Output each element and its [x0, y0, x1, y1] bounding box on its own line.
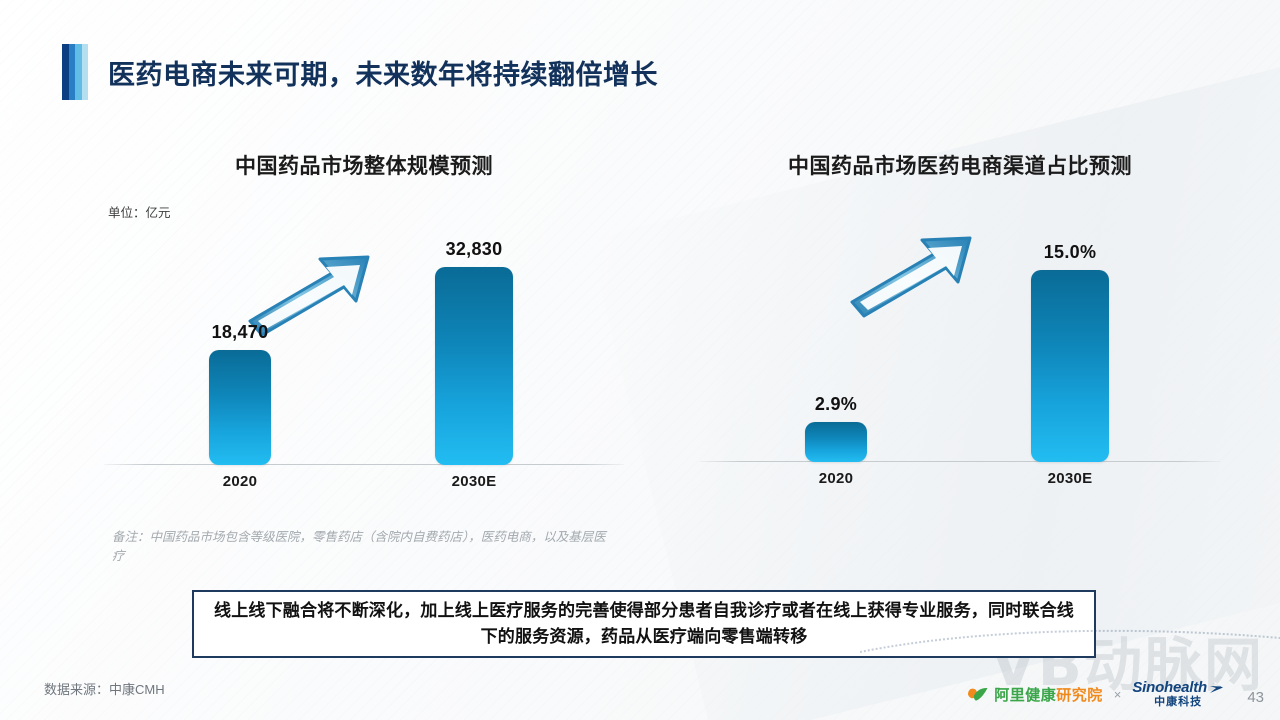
bar-label-left-2020: 2020	[160, 473, 320, 490]
insight-callout-box: 线上线下融合将不断深化，加上线上医疗服务的完善使得部分患者自我诊疗或者在线上获得…	[192, 590, 1096, 658]
bar-left-2030e	[435, 267, 513, 465]
sinohealth-name-cn: 中康科技	[1132, 697, 1224, 708]
bar-value-left-2030e: 32,830	[394, 239, 554, 260]
bar-group-right-2020: 2.9% 2020	[756, 394, 916, 462]
sinohealth-name-en: Sinohealth	[1132, 680, 1207, 695]
bar-right-2020	[805, 422, 867, 462]
alibaba-health-logo: 阿里健康研究院	[967, 684, 1103, 705]
ali-name-orange: 研究院	[1056, 687, 1103, 704]
sinohealth-arrow-icon	[1209, 681, 1224, 694]
bar-value-left-2020: 18,470	[160, 322, 320, 343]
bar-label-right-2030e: 2030E	[990, 470, 1150, 487]
page-title: 医药电商未来可期，未来数年将持续翻倍增长	[108, 53, 658, 92]
accent-bar-icon	[62, 44, 88, 100]
growth-arrow-icon-right	[846, 228, 976, 320]
chart-panel-overall-market-size: 中国药品市场整体规模预测 单位：亿元 18,470 2020 32,830 20…	[104, 150, 624, 499]
plot-area-left: 18,470 2020 32,830 2030E	[104, 227, 624, 499]
bar-right-2030e	[1031, 270, 1109, 462]
chart-panel-ecommerce-channel-share: 中国药品市场医药电商渠道占比预测 2.9% 2020 15.0% 2030E	[700, 150, 1220, 496]
bar-group-left-2030e: 32,830 2030E	[394, 239, 554, 465]
sinohealth-logo: Sinohealth 中康科技	[1132, 680, 1224, 708]
bar-value-right-2020: 2.9%	[756, 394, 916, 415]
slide-header: 医药电商未来可期，未来数年将持续翻倍增长	[62, 44, 658, 100]
ali-name-green: 阿里健康	[994, 687, 1056, 704]
bar-label-left-2030e: 2030E	[394, 473, 554, 490]
alibaba-health-text: 阿里健康研究院	[994, 684, 1103, 705]
source-note: 数据来源：中康CMH	[44, 679, 165, 698]
chart-unit-left: 单位：亿元	[108, 202, 624, 221]
leaf-check-icon	[967, 686, 989, 702]
chart-title-left: 中国药品市场整体规模预测	[104, 150, 624, 180]
logo-separator: ×	[1112, 687, 1124, 702]
bar-label-right-2020: 2020	[756, 470, 916, 487]
page-number: 43	[1247, 689, 1264, 706]
chart-footnote-left: 备注：中国药品市场包含等级医院，零售药店（含院内自费药店），医药电商，以及基层医…	[112, 528, 612, 567]
plot-area-right: 2.9% 2020 15.0% 2030E	[700, 224, 1220, 496]
bar-value-right-2030e: 15.0%	[990, 242, 1150, 263]
insight-callout-text: 线上线下融合将不断深化，加上线上医疗服务的完善使得部分患者自我诊疗或者在线上获得…	[212, 598, 1076, 651]
bar-group-left-2020: 18,470 2020	[160, 322, 320, 465]
bar-left-2020	[209, 350, 271, 465]
chart-title-right: 中国药品市场医药电商渠道占比预测	[700, 150, 1220, 180]
footer-logos: 阿里健康研究院 × Sinohealth 中康科技	[967, 680, 1224, 708]
bar-group-right-2030e: 15.0% 2030E	[990, 242, 1150, 462]
